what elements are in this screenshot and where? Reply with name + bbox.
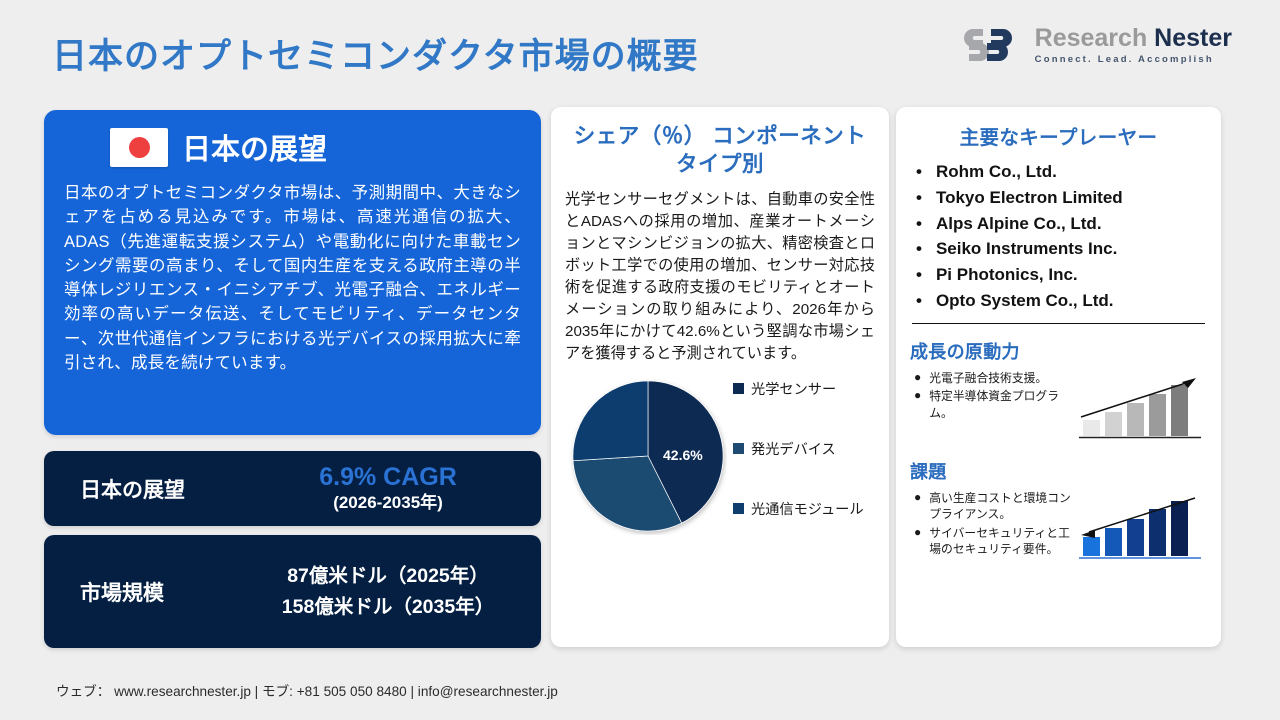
challenges-content: ● 高い生産コストと環境コンプライアンス。 ● サイバーセキュリティと工場のセキ… xyxy=(910,490,1207,564)
cagr-value: 6.9% CAGR xyxy=(259,463,517,493)
bullet-icon: ● xyxy=(914,525,921,558)
cagr-stat-card: 日本の展望 6.9% CAGR (2026-2035年) xyxy=(44,451,541,526)
bullet-icon: • xyxy=(916,211,922,237)
logo-tagline: Connect. Lead. Accomplish xyxy=(1035,54,1214,65)
list-item: ● サイバーセキュリティと工場のセキュリティ要件。 xyxy=(914,525,1071,558)
share-card-title: シェア（％） コンポーネントタイプ別 xyxy=(565,123,875,179)
legend-swatch-icon xyxy=(733,383,744,394)
logo-word-nester: Nester xyxy=(1154,24,1232,52)
legend-item: 発光デバイス xyxy=(733,439,893,499)
pie-slice-optical-comm-module xyxy=(573,381,648,461)
list-item: ● 特定半導体資金プログラム。 xyxy=(914,388,1071,421)
player-name: Pi Photonics, Inc. xyxy=(936,262,1078,288)
growth-drivers-list: ● 光電子融合技術支援。 ● 特定半導体資金プログラム。 xyxy=(910,370,1071,423)
bullet-icon: • xyxy=(916,185,922,211)
list-item: • Pi Photonics, Inc. xyxy=(916,262,1207,288)
growth-drivers-title: 成長の原動力 xyxy=(910,338,1207,364)
challenges-list: ● 高い生産コストと環境コンプライアンス。 ● サイバーセキュリティと工場のセキ… xyxy=(910,490,1071,559)
outlook-header: 日本の展望 xyxy=(110,126,521,168)
bullet-icon: ● xyxy=(914,490,921,523)
growth-drivers-content: ● 光電子融合技術支援。 ● 特定半導体資金プログラム。 xyxy=(910,370,1207,444)
legend-item: 光学センサー xyxy=(733,379,893,439)
list-item: • Alps Alpine Co., Ltd. xyxy=(916,211,1207,237)
legend-label: 光通信モジュール xyxy=(751,499,864,519)
cagr-period: (2026-2035年) xyxy=(259,492,517,514)
footer-contact: ウェブ： www.researchnester.jp | モブ: +81 505… xyxy=(56,680,558,700)
bullet-icon: • xyxy=(916,288,922,314)
list-item: ● 高い生産コストと環境コンプライアンス。 xyxy=(914,490,1071,523)
challenge-text: サイバーセキュリティと工場のセキュリティ要件。 xyxy=(929,525,1071,558)
list-item: • Seiko Instruments Inc. xyxy=(916,236,1207,262)
challenges-section: 課題 ● 高い生産コストと環境コンプライアンス。 ● サイバーセキュリティと工場… xyxy=(910,458,1207,564)
brand-logo: Research Nester Connect. Lead. Accomplis… xyxy=(963,25,1232,65)
player-name: Rohm Co., Ltd. xyxy=(936,159,1057,185)
market-size-card-label: 市場規模 xyxy=(44,577,259,607)
player-name: Alps Alpine Co., Ltd. xyxy=(936,211,1102,237)
market-size-2025: 87億米ドル（2025年） xyxy=(259,561,517,591)
list-item: • Tokyo Electron Limited xyxy=(916,185,1207,211)
legend-swatch-icon xyxy=(733,443,744,454)
chain-link-logo-icon xyxy=(963,25,1025,65)
challenge-text: 高い生産コストと環境コンプライアンス。 xyxy=(929,490,1071,523)
growth-drivers-section: 成長の原動力 ● 光電子融合技術支援。 ● 特定半導体資金プログラム。 xyxy=(910,338,1207,444)
share-card-body-text: 光学センサーセグメントは、自動車の安全性とADASへの採用の増加、産業オートメー… xyxy=(565,189,875,365)
key-players-list: • Rohm Co., Ltd. • Tokyo Electron Limite… xyxy=(910,159,1207,314)
list-item: ● 光電子融合技術支援。 xyxy=(914,370,1071,386)
player-name: Tokyo Electron Limited xyxy=(936,185,1123,211)
logo-wordmark: Research Nester xyxy=(1035,25,1232,51)
outlook-body-text: 日本のオプトセミコンダクタ市場は、予測期間中、大きなシェアを占める見込みです。市… xyxy=(64,181,521,375)
pie-chart-area: 42.6% 光学センサー 発光デバイス 光通信モジュール xyxy=(565,377,875,562)
logo-text: Research Nester Connect. Lead. Accomplis… xyxy=(1035,25,1232,64)
japan-flag-icon xyxy=(110,128,168,167)
legend-swatch-icon xyxy=(733,503,744,514)
japan-outlook-panel: 日本の展望 日本のオプトセミコンダクタ市場は、予測期間中、大きなシェアを占める見… xyxy=(44,110,541,435)
legend-item: 光通信モジュール xyxy=(733,499,893,559)
bullet-icon: • xyxy=(916,262,922,288)
pie-chart-legend: 光学センサー 発光デバイス 光通信モジュール xyxy=(733,379,893,559)
market-size-card-values: 87億米ドル（2025年） 158億米ドル（2035年） xyxy=(259,561,541,621)
growth-driver-text: 光電子融合技術支援。 xyxy=(929,370,1047,386)
ascending-bar-chart-with-up-arrow-icon xyxy=(1077,372,1207,444)
outlook-title: 日本の展望 xyxy=(182,126,327,168)
list-item: • Opto System Co., Ltd. xyxy=(916,288,1207,314)
flag-red-circle xyxy=(129,137,150,158)
growth-driver-text: 特定半導体資金プログラム。 xyxy=(929,388,1071,421)
bullet-icon: ● xyxy=(914,388,921,421)
share-by-component-card: シェア（％） コンポーネントタイプ別 光学センサーセグメントは、自動車の安全性と… xyxy=(551,107,889,647)
cagr-card-values: 6.9% CAGR (2026-2035年) xyxy=(259,463,541,515)
legend-label: 光学センサー xyxy=(751,379,836,399)
key-players-card: 主要なキープレーヤー • Rohm Co., Ltd. • Tokyo Elec… xyxy=(896,107,1221,647)
logo-word-research: Research xyxy=(1035,24,1148,52)
page-title: 日本のオプトセミコンダクタ市場の概要 xyxy=(52,28,699,79)
bullet-icon: ● xyxy=(914,370,921,386)
cagr-card-label: 日本の展望 xyxy=(44,474,259,504)
pie-chart: 42.6% xyxy=(569,377,727,535)
list-item: • Rohm Co., Ltd. xyxy=(916,159,1207,185)
section-divider xyxy=(912,323,1205,324)
pie-chart-svg xyxy=(569,377,727,535)
bullet-icon: • xyxy=(916,159,922,185)
challenges-title: 課題 xyxy=(910,458,1207,484)
market-size-stat-card: 市場規模 87億米ドル（2025年） 158億米ドル（2035年） xyxy=(44,535,541,648)
key-players-title: 主要なキープレーヤー xyxy=(910,121,1207,150)
pie-data-label: 42.6% xyxy=(663,447,703,463)
page-header: 日本のオプトセミコンダクタ市場の概要 Research Nester Conne… xyxy=(0,0,1280,98)
market-size-2035: 158億米ドル（2035年） xyxy=(259,592,517,622)
legend-label: 発光デバイス xyxy=(751,439,836,459)
infographic-page: 日本のオプトセミコンダクタ市場の概要 Research Nester Conne… xyxy=(0,0,1280,720)
player-name: Seiko Instruments Inc. xyxy=(936,236,1117,262)
ascending-bar-chart-with-down-arrow-icon xyxy=(1077,492,1207,564)
player-name: Opto System Co., Ltd. xyxy=(936,288,1114,314)
bullet-icon: • xyxy=(916,236,922,262)
